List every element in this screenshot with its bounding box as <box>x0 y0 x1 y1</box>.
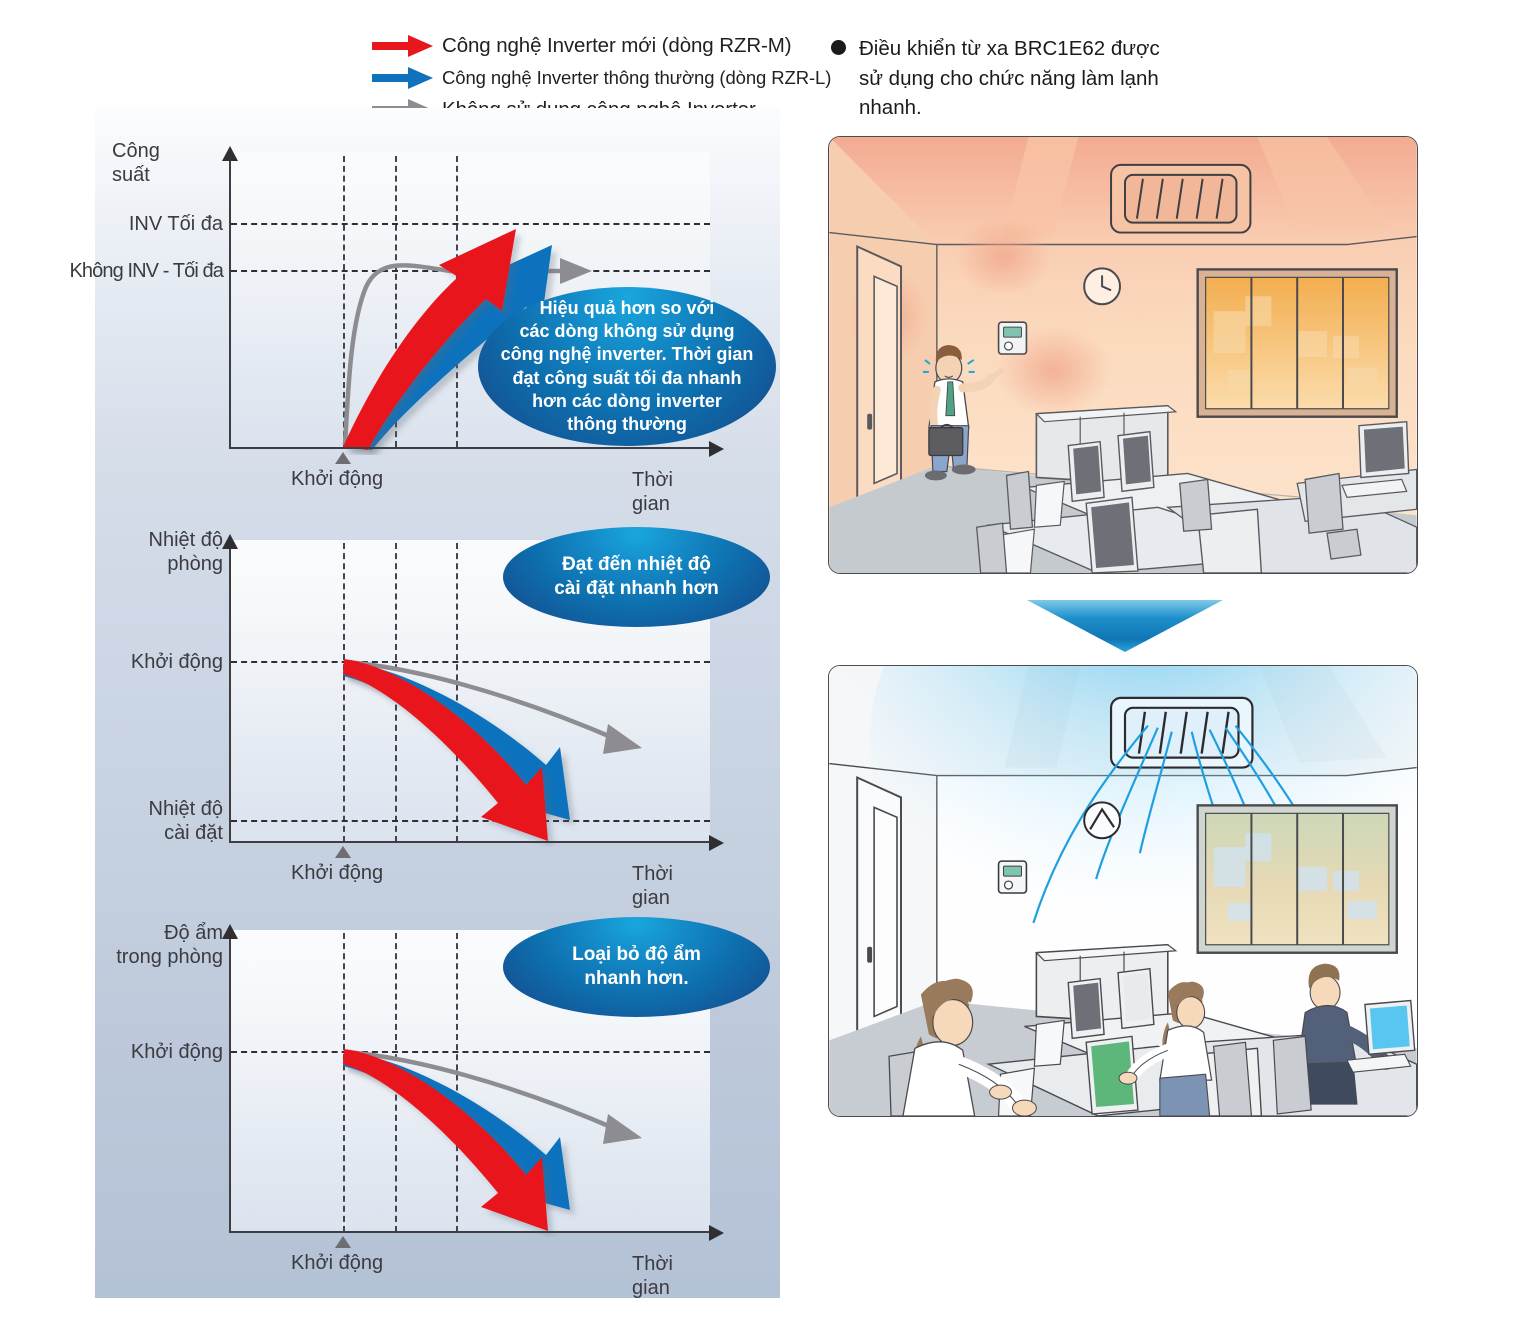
y-axis-arrowhead <box>222 146 238 161</box>
legend-item-inverter-new: Công nghệ Inverter mới (dòng RZR-M) <box>372 30 842 62</box>
callout-temperature: Đạt đến nhiệt độ cài đặt nhanh hơn <box>503 527 770 627</box>
bullet-dot-icon <box>831 40 846 55</box>
cabinet-icon <box>1036 406 1175 486</box>
x-tick-marker <box>335 1236 351 1248</box>
door-icon <box>857 778 901 1041</box>
window-icon <box>1198 805 1397 952</box>
y-axis-arrowhead <box>222 534 238 549</box>
x-axis-title-humidity: Thời gian <box>632 1252 673 1300</box>
door-icon <box>857 246 901 507</box>
callout-capacity: Hiệu quả hơn so với các dòng không sử dụ… <box>478 287 776 446</box>
x-tick-label-start: Khởi động <box>291 1252 383 1275</box>
x-axis-arrowhead <box>709 441 724 457</box>
x-tick-marker <box>335 846 351 858</box>
y-tick-inv-max: INV Tối đa <box>68 212 223 236</box>
ceiling-cassette-icon <box>1111 165 1250 233</box>
x-axis-arrowhead <box>709 1225 724 1241</box>
illustration-office-before <box>828 136 1418 574</box>
blue-arrow-icon <box>372 65 434 91</box>
x-tick-marker <box>335 452 351 464</box>
y-tick-setpoint: Nhiệt độ cài đặt <box>68 797 223 846</box>
y-axis-title-capacity: Công suất <box>112 139 160 187</box>
illustration-office-after <box>828 665 1418 1117</box>
ceiling-cassette-icon <box>1111 698 1252 768</box>
legend-label: Công nghệ Inverter mới (dòng RZR-M) <box>442 34 791 58</box>
office-warm-scene <box>829 137 1417 573</box>
wall-controller-icon <box>999 322 1027 354</box>
y-axis-capacity <box>229 160 231 448</box>
red-arrow-icon <box>372 33 434 59</box>
x-tick-label-start: Khởi động <box>291 468 383 491</box>
x-axis-title-capacity: Thời gian <box>632 468 673 516</box>
y-tick-start: Khởi động <box>68 1040 223 1064</box>
y-tick-non-inv-max: Không INV - Tối đa <box>52 259 223 283</box>
x-axis-arrowhead <box>709 835 724 851</box>
y-axis-title-temperature: Nhiệt độ phòng <box>133 528 223 576</box>
y-axis-arrowhead <box>222 924 238 939</box>
x-axis-capacity <box>229 447 710 449</box>
x-axis-humidity <box>229 1231 710 1233</box>
x-tick-label-start: Khởi động <box>291 862 383 885</box>
wall-clock-icon <box>1084 802 1120 838</box>
window-icon <box>1198 269 1397 416</box>
legend-item-inverter-conventional: Công nghệ Inverter thông thường (dòng RZ… <box>372 62 842 94</box>
remote-controller-note: Điều khiển từ xa BRC1E62 được sử dụng ch… <box>831 34 1251 123</box>
x-axis-temperature <box>229 841 710 843</box>
y-tick-start: Khởi động <box>68 650 223 674</box>
callout-humidity: Loại bỏ độ ẩm nhanh hơn. <box>503 917 770 1017</box>
y-axis-title-humidity: Độ ẩm trong phòng <box>105 921 223 969</box>
down-triangle-icon <box>1025 592 1225 654</box>
y-axis-humidity <box>229 938 231 1232</box>
page-root: Công nghệ Inverter mới (dòng RZR-M) Công… <box>0 0 1536 1328</box>
legend-label: Công nghệ Inverter thông thường (dòng RZ… <box>442 67 831 89</box>
cabinet-icon <box>1036 945 1175 1025</box>
y-axis-temperature <box>229 548 231 842</box>
wall-clock-icon <box>1084 268 1120 304</box>
office-cool-scene <box>829 666 1417 1116</box>
wall-controller-icon <box>999 861 1027 893</box>
remote-controller-note-text: Điều khiển từ xa BRC1E62 được sử dụng ch… <box>859 34 1251 123</box>
x-axis-title-temperature: Thời gian <box>632 862 673 910</box>
